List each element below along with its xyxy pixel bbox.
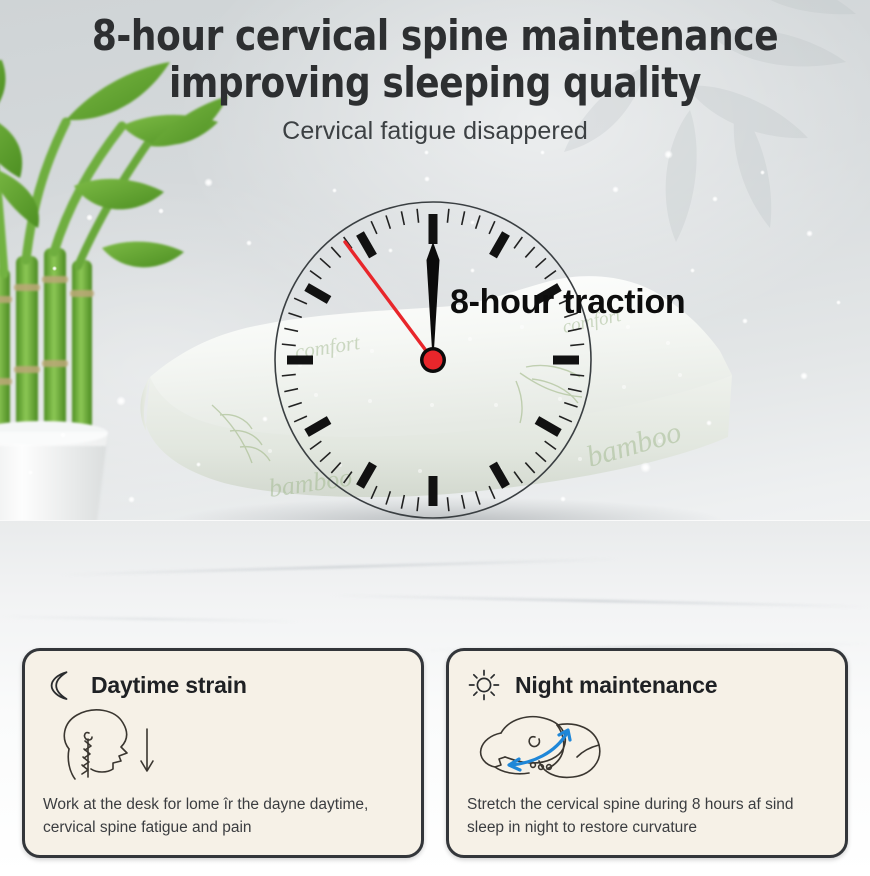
svg-text:comfort: comfort (561, 305, 624, 338)
sparkle (540, 150, 545, 155)
head-on-pillow-traction-illustration (471, 703, 656, 783)
card-body-text: Work at the desk for lome îr the dayne d… (43, 793, 407, 839)
headline-block: 8-hour cervical spine maintenance improv… (0, 12, 870, 146)
svg-text:comfort: comfort (293, 330, 362, 364)
subtitle: Cervical fatigue disappered (0, 117, 870, 146)
headline-line-1: 8-hour cervical spine maintenance (22, 12, 849, 59)
sparkle (424, 150, 429, 155)
sparkle (158, 208, 164, 214)
sparkle (640, 462, 651, 473)
sparkle (196, 462, 201, 467)
sparkle (116, 396, 126, 406)
sparkle (806, 230, 813, 237)
sparkle (470, 268, 475, 273)
head-profile-spine-illustration (47, 703, 212, 783)
sparkle (128, 496, 135, 503)
sun-icon (467, 668, 501, 702)
benefit-cards: Daytime strain (22, 648, 848, 858)
svg-text:bamboo: bamboo (583, 415, 685, 473)
bamboo-plant-decor (0, 60, 232, 560)
sparkle (28, 470, 33, 475)
sparkle (836, 300, 841, 305)
sparkle (60, 432, 66, 438)
card-body-text: Stretch the cervical spine during 8 hour… (467, 793, 831, 839)
sparkle (470, 220, 475, 225)
sparkle (760, 170, 765, 175)
sparkle (800, 372, 808, 380)
sparkle (560, 496, 566, 502)
sparkle (52, 266, 57, 271)
card-night-maintenance[interactable]: Night maintenance (446, 648, 848, 858)
clock-second-hand (345, 242, 433, 360)
sparkle (204, 178, 213, 187)
sparkle (262, 416, 268, 422)
clock-overlay-graphic (273, 200, 593, 520)
headline-line-2: improving sleeping quality (22, 59, 849, 106)
clock-hour-hand (427, 242, 440, 366)
hero-traction-label: 8-hour traction (450, 283, 685, 322)
background-wall (0, 0, 870, 600)
crescent-moon-icon (43, 668, 77, 702)
sparkle (332, 188, 337, 193)
sparkle (424, 176, 430, 182)
card-daytime-strain[interactable]: Daytime strain (22, 648, 424, 858)
card-title: Night maintenance (515, 672, 717, 699)
sparkle (712, 196, 718, 202)
card-title: Daytime strain (91, 672, 247, 699)
sparkle (706, 420, 712, 426)
sparkle (612, 186, 619, 193)
sparkle (246, 240, 252, 246)
bamboo-leaf-watermark-icon (560, 0, 870, 300)
sparkle (664, 150, 673, 159)
card-header: Night maintenance (467, 665, 827, 705)
svg-text:bamboo: bamboo (267, 463, 354, 503)
sparkle (388, 248, 393, 253)
card-header: Daytime strain (43, 665, 403, 705)
memory-foam-pillow-product: comfort comfort bamboo bamboo (120, 255, 760, 555)
sparkle (86, 214, 93, 221)
advertisement-canvas: comfort comfort bamboo bamboo (0, 0, 870, 876)
sparkle (690, 268, 695, 273)
sparkle (742, 318, 748, 324)
